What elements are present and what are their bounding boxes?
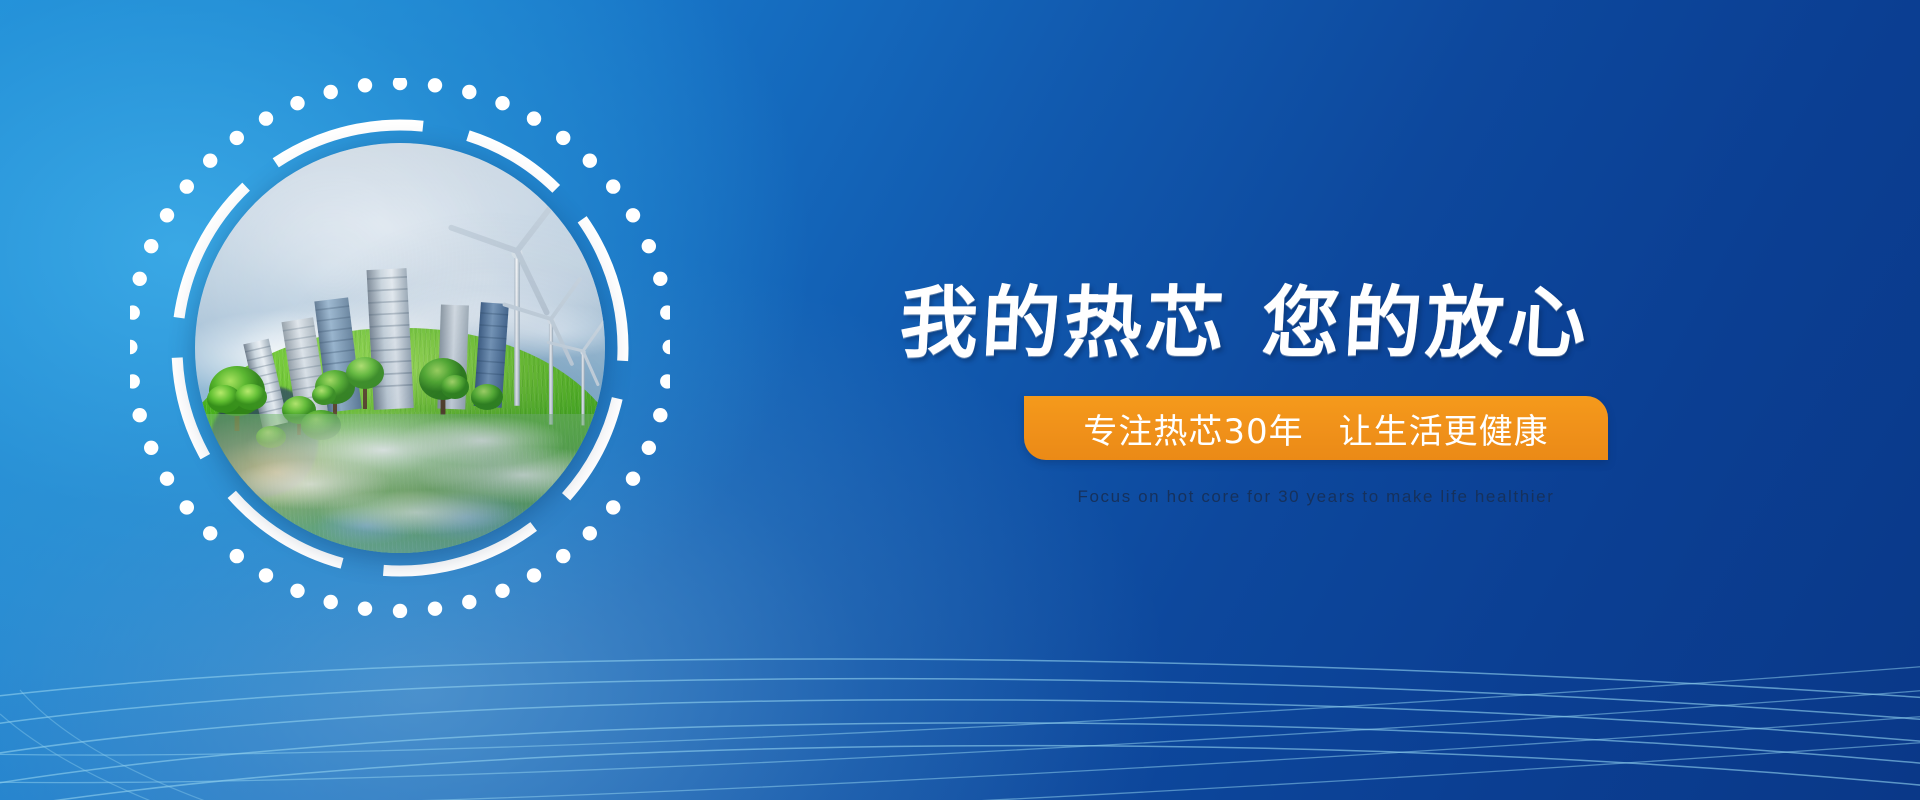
page-title: 我的热芯您的放心 xyxy=(897,276,1742,372)
badge-label: 专注热芯30年 让生活更健康 xyxy=(1083,404,1548,453)
headline-part-2: 您的放心 xyxy=(1260,279,1593,369)
status-badge: 专注热芯30年 让生活更健康 xyxy=(1024,396,1608,460)
earth-globe-image xyxy=(195,143,605,553)
headline-part-1: 我的热芯 xyxy=(898,279,1231,369)
eco-earth-globe-graphic xyxy=(130,78,670,618)
promo-banner: 我的热芯您的放心 专注热芯30年 让生活更健康 Focus on hot cor… xyxy=(0,0,1920,800)
subtitle: Focus on hot core for 30 years to make l… xyxy=(1024,484,1608,510)
globe-sphere-shading xyxy=(195,143,605,553)
